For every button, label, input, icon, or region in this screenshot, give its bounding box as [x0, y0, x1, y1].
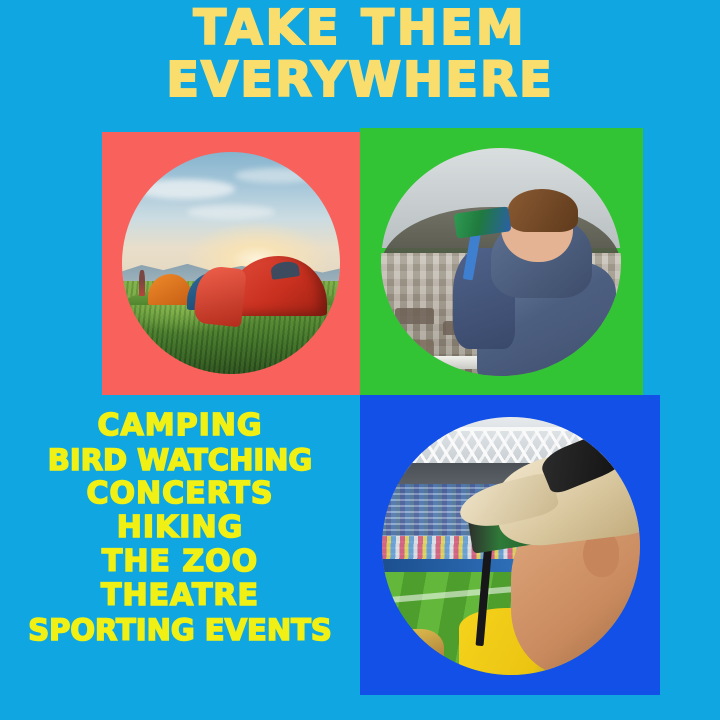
title-line-2: EVERYWHERE: [0, 54, 720, 106]
bird-watching-scene: [381, 148, 621, 376]
cloud: [235, 168, 318, 184]
list-item: THE ZOO: [0, 545, 360, 579]
advertising-board: [382, 559, 516, 572]
list-item: THEATRE: [0, 579, 360, 613]
page-title: TAKE THEM EVERYWHERE: [0, 2, 720, 106]
photo-camping: [122, 152, 340, 374]
stadium-scene: [382, 417, 640, 675]
photo-sporting-events: [382, 417, 640, 675]
list-item: BIRD WATCHING: [0, 443, 360, 477]
list-item: HIKING: [0, 511, 360, 545]
activity-list: CAMPING BIRD WATCHING CONCERTS HIKING TH…: [0, 409, 360, 647]
boy-hair: [508, 189, 578, 232]
camping-scene: [122, 152, 340, 374]
cloud: [135, 179, 235, 199]
title-line-1: TAKE THEM: [0, 2, 720, 54]
list-item: CAMPING: [0, 409, 360, 443]
poster-canvas: TAKE THEM EVERYWHERE: [0, 0, 720, 720]
list-item: CONCERTS: [0, 477, 360, 511]
photo-bird-watching: [381, 148, 621, 376]
list-item: SPORTING EVENTS: [0, 613, 360, 647]
rooftop: [395, 308, 433, 324]
camper-figure: [139, 270, 144, 297]
cloud: [187, 205, 274, 218]
foreground-fan: [387, 629, 444, 675]
